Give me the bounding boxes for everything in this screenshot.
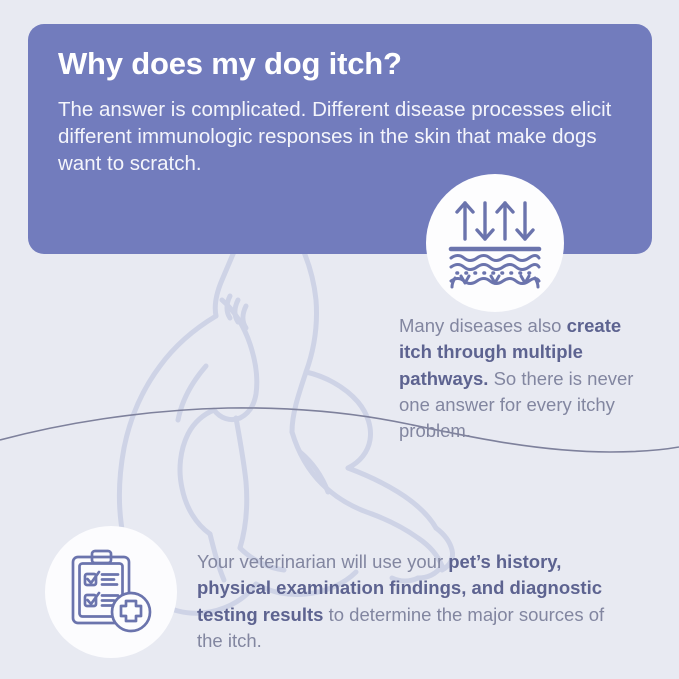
hero-body-text: The answer is complicated. Different dis… [58,96,622,178]
clipboard-checklist-plus-icon [69,549,153,635]
callout-middle: Many diseases also create itch through m… [399,313,635,444]
callout-middle-seg-0: Many diseases also [399,315,567,336]
skin-icon-badge [426,174,564,312]
skin-arrows-icon [445,197,545,289]
callout-bottom: Your veterinarian will use your pet’s hi… [197,549,622,654]
clipboard-icon-badge [45,526,177,658]
callout-bottom-seg-0: Your veterinarian will use your [197,551,448,572]
infographic-root: Why does my dog itch? The answer is comp… [0,0,679,679]
page-title: Why does my dog itch? [58,46,622,82]
